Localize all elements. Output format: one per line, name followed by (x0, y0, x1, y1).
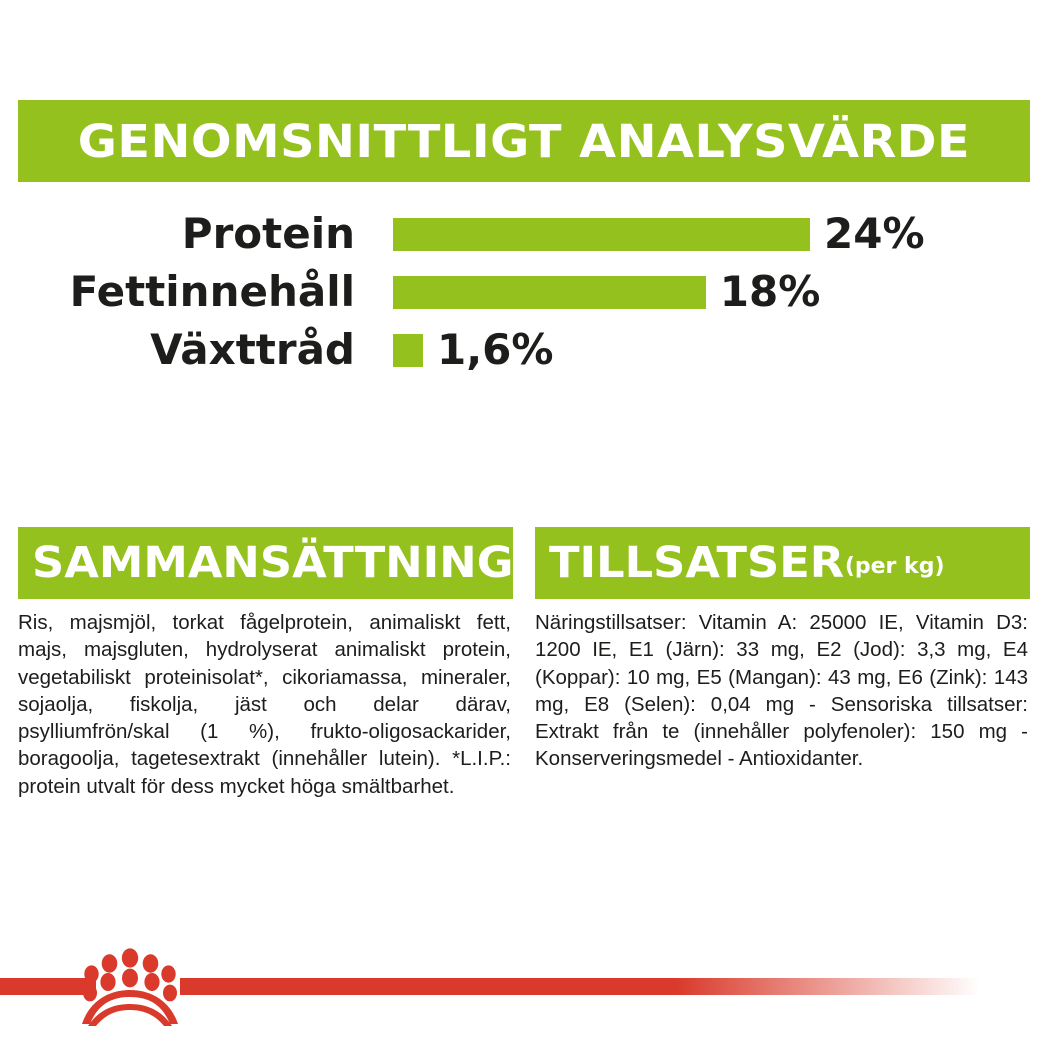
bar-value-vaxttrad: 1,6% (437, 329, 553, 371)
footer-rule-right (180, 978, 980, 995)
bar-fill-vaxttrad (393, 334, 423, 367)
bar-label-protein: Protein (0, 213, 355, 255)
bar-track: 1,6% (355, 321, 1049, 379)
section-tillsatser: TILLSATSER (per kg) Näringstillsatser: V… (535, 527, 1030, 800)
footer (0, 930, 1049, 1049)
analysis-bar-chart: Protein 24% Fettinnehåll 18% Växttråd 1,… (0, 205, 1049, 379)
section-heading-label: TILLSATSER (549, 542, 844, 585)
analysis-banner: GENOMSNITTLIGT ANALYSVÄRDE (18, 100, 1030, 182)
bar-row: Fettinnehåll 18% (0, 263, 1049, 321)
section-body-tillsatser: Näringstillsatser: Vitamin A: 25000 IE, … (535, 609, 1030, 773)
section-header-tillsatser: TILLSATSER (per kg) (535, 527, 1030, 599)
bar-row: Protein 24% (0, 205, 1049, 263)
bar-track: 24% (355, 205, 1049, 263)
royal-canin-crown-logo-icon (78, 948, 182, 1026)
section-sammansattning: SAMMANSÄTTNING Ris, majsmjöl, torkat fåg… (18, 527, 513, 800)
bar-track: 18% (355, 263, 1049, 321)
section-body-sammansattning: Ris, majsmjöl, torkat fågelprotein, anim… (18, 609, 513, 800)
bar-row: Växttråd 1,6% (0, 321, 1049, 379)
section-heading-label: SAMMANSÄTTNING (32, 542, 513, 585)
bar-label-fettinnehall: Fettinnehåll (0, 271, 355, 313)
info-sections: SAMMANSÄTTNING Ris, majsmjöl, torkat fåg… (18, 527, 1030, 800)
bar-value-protein: 24% (824, 213, 925, 255)
section-heading-sublabel: (per kg) (845, 548, 945, 578)
bar-fill-fettinnehall (393, 276, 706, 309)
section-header-sammansattning: SAMMANSÄTTNING (18, 527, 513, 599)
bar-fill-protein (393, 218, 810, 251)
analysis-banner-title: GENOMSNITTLIGT ANALYSVÄRDE (78, 119, 970, 164)
bar-value-fettinnehall: 18% (720, 271, 821, 313)
bar-label-vaxttrad: Växttråd (0, 329, 355, 371)
